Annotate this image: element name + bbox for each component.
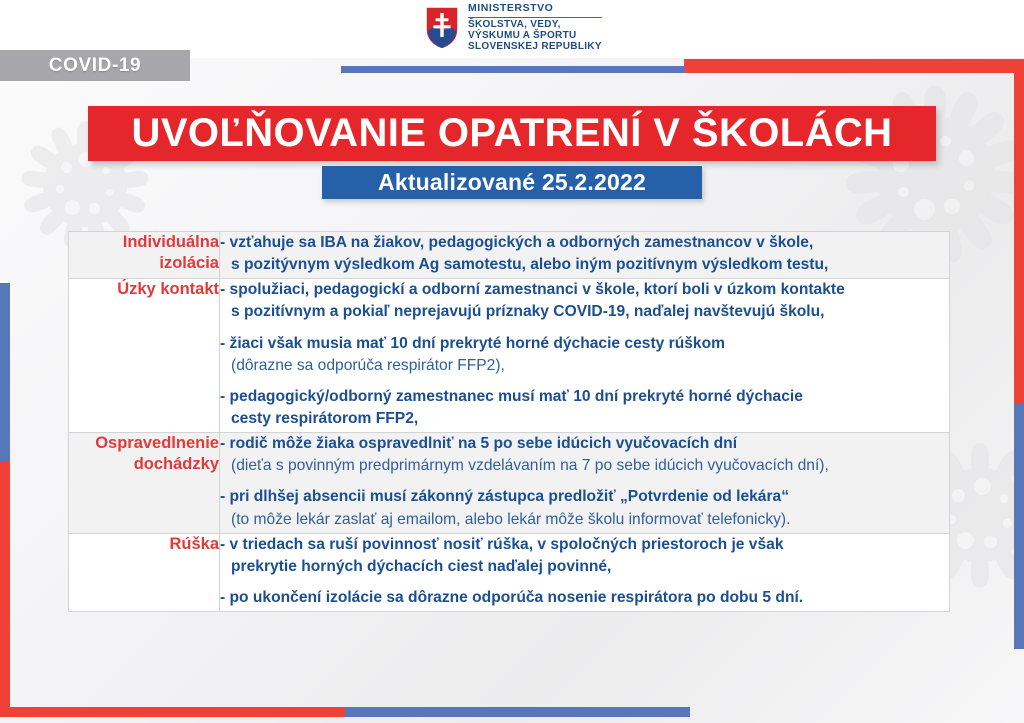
table-row: Ospravedlnenie dochádzky- rodič môže žia… [69,433,949,534]
row-content: - rodič môže žiaka ospravedlniť na 5 po … [220,433,950,534]
bullet-line: - po ukončení izolácie sa dôrazne odporú… [220,587,949,609]
page-title: UVOĽŇOVANIE OPATRENÍ V ŠKOLÁCH [132,111,893,156]
bullet-line: prekrytie horných dýchacích ciest naďale… [220,556,949,578]
bullet-line: - pedagogický/odborný zamestnanec musí m… [220,386,949,408]
bullet-item: - pedagogický/odborný zamestnanec musí m… [220,386,949,430]
bullet-item: - žiaci však musia mať 10 dní prekryté h… [220,333,949,377]
table-row: Úzky kontakt- spolužiaci, pedagogickí a … [69,279,949,433]
covid-19-tab-label: COVID-19 [49,55,141,77]
table-row: Rúška- v triedach sa ruší povinnosť nosi… [69,533,949,611]
page-subtitle: Aktualizované 25.2.2022 [378,169,646,196]
bullet-line: - v triedach sa ruší povinnosť nosiť rúš… [220,534,949,556]
header-rule-red [685,66,1024,73]
ministry-logo-text: MINISTERSTVO ŠKOLSTVA, VEDY, VÝSKUMU A Š… [468,3,602,52]
bullet-line: s pozitývnym výsledkom Ag samotestu, ale… [220,254,949,276]
slovak-coat-of-arms-icon [425,6,459,50]
bullet-item: - po ukončení izolácie sa dôrazne odporú… [220,587,949,609]
table-row: Individuálna izolácia- vzťahuje sa IBA n… [69,232,949,279]
row-label: Rúška [69,533,220,611]
bullet-item: - rodič môže žiaka ospravedlniť na 5 po … [220,433,949,477]
bullet-line: (dieťa s povinným predprimárnym vzdeláva… [220,455,949,477]
frame-left-red [0,461,10,717]
bullet-line: s pozitívnym a pokiaľ neprejavujú prízna… [220,301,949,323]
bullet-line: - pri dlhšej absencii musí zákonný zástu… [220,486,949,508]
frame-left-blue [0,283,10,461]
subtitle-banner: Aktualizované 25.2.2022 [322,166,702,199]
poster-root: MINISTERSTVO ŠKOLSTVA, VEDY, VÝSKUMU A Š… [0,0,1024,723]
bullet-item: - v triedach sa ruší povinnosť nosiť rúš… [220,534,949,578]
ministry-line-2: ŠKOLSTVA, VEDY, VÝSKUMU A ŠPORTU SLOVENS… [468,19,602,53]
bullet-line: - žiaci však musia mať 10 dní prekryté h… [220,333,949,355]
measures-table-wrap: Individuálna izolácia- vzťahuje sa IBA n… [68,231,950,612]
bullet-item: - pri dlhšej absencii musí zákonný zástu… [220,486,949,530]
row-content: - spolužiaci, pedagogickí a odborní zame… [220,279,950,433]
header-rule-blue [341,66,685,73]
ministry-logo: MINISTERSTVO ŠKOLSTVA, VEDY, VÝSKUMU A Š… [425,4,602,52]
bullet-line: - vzťahuje sa IBA na žiakov, pedagogický… [220,232,949,254]
row-label: Ospravedlnenie dochádzky [69,433,220,534]
row-content: - v triedach sa ruší povinnosť nosiť rúš… [220,533,950,611]
bullet-item: - spolužiaci, pedagogickí a odborní zame… [220,279,949,323]
covid-19-tab: COVID-19 [0,50,190,81]
main-title-banner: UVOĽŇOVANIE OPATRENÍ V ŠKOLÁCH [88,106,936,161]
bullet-line: (to môže lekár zaslať aj emailom, alebo … [220,509,949,531]
bullet-line: - spolužiaci, pedagogickí a odborní zame… [220,279,949,301]
row-label: Úzky kontakt [69,279,220,433]
row-content: - vzťahuje sa IBA na žiakov, pedagogický… [220,232,950,279]
frame-bottom-blue [345,707,690,717]
bullet-line: - rodič môže žiaka ospravedlniť na 5 po … [220,433,949,455]
bullet-line: (dôrazne sa odporúča respirátor FFP2), [220,355,949,377]
bullet-item: - vzťahuje sa IBA na žiakov, pedagogický… [220,232,949,276]
frame-right-blue [1014,404,1024,649]
frame-bottom-red [0,707,345,717]
bullet-line: cesty respirátorom FFP2, [220,408,949,430]
row-label: Individuálna izolácia [69,232,220,279]
frame-right-red [1014,59,1024,404]
ministry-line-1: MINISTERSTVO [468,3,602,17]
measures-table: Individuálna izolácia- vzťahuje sa IBA n… [69,232,949,612]
